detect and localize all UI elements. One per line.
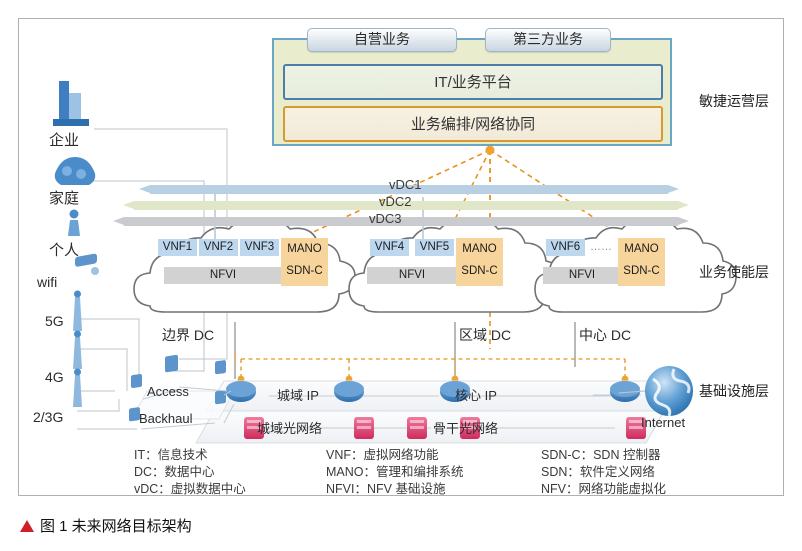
legend-item: DC：数据中心 xyxy=(134,464,246,481)
mano-sdnc-block[interactable]: MANO SDN-C xyxy=(456,238,503,286)
legend-item: MANO：管理和编排系统 xyxy=(326,464,464,481)
diagram-frame: IT/业务平台 业务编排/网络协同 自营业务 第三方业务 vDC1 vDC2 v… xyxy=(18,18,784,496)
legend-item: IT：信息技术 xyxy=(134,447,246,464)
vnf-block[interactable]: VNF5 xyxy=(415,239,454,256)
layer-label-infrastructure: 基础设施层 xyxy=(699,381,769,401)
core-ip-label: 核心 IP xyxy=(455,385,497,404)
access-label: Access xyxy=(147,384,189,399)
metro-ip-label: 城域 IP xyxy=(277,385,319,404)
vnf-block[interactable]: VNF3 xyxy=(240,239,279,256)
device-label-4g: 4G xyxy=(45,369,64,385)
legend-column-3: SDN-C：SDN 控制器 SDN：软件定义网络 NFV：网络功能虚拟化 xyxy=(541,447,666,498)
orchestration-hub-node xyxy=(486,146,495,155)
legend-column-1: IT：信息技术 DC：数据中心 vDC：虚拟数据中心 xyxy=(134,447,246,498)
vnf-block[interactable]: VNF6 xyxy=(546,239,585,256)
legend-item: vDC：虚拟数据中心 xyxy=(134,481,246,498)
nfvi-block[interactable]: NFVI xyxy=(367,267,457,284)
layer-label-service-enablement: 业务使能层 xyxy=(699,262,769,282)
infra-orange-links xyxy=(235,354,625,377)
legend-column-2: VNF：虚拟网络功能 MANO：管理和编排系统 NFVI：NFV 基础设施 xyxy=(326,447,464,498)
nfvi-block[interactable]: NFVI xyxy=(164,267,282,284)
vdc-label-3: vDC3 xyxy=(369,211,402,226)
vnf-block[interactable]: VNF1 xyxy=(158,239,197,256)
nfvi-block[interactable]: NFVI xyxy=(543,267,621,284)
dc-label: 中心 DC xyxy=(579,325,631,345)
device-label-5g: 5G xyxy=(45,313,64,329)
figure-caption: 图 1 未来网络目标架构 xyxy=(20,515,192,536)
mano-label: MANO xyxy=(618,238,665,260)
internet-globe-icon xyxy=(645,366,693,416)
third-party-service-button[interactable]: 第三方业务 xyxy=(485,28,611,52)
self-service-button[interactable]: 自营业务 xyxy=(307,28,457,52)
device-label-home: 家庭 xyxy=(49,187,79,208)
agile-operation-panel: IT/业务平台 业务编排/网络协同 xyxy=(272,38,672,146)
vnf-ellipsis: …… xyxy=(587,239,615,256)
internet-label: Internet xyxy=(641,415,685,430)
layer-label-agile-operation: 敏捷运营层 xyxy=(699,91,769,111)
legend-item: SDN：软件定义网络 xyxy=(541,464,666,481)
vnf-block[interactable]: VNF2 xyxy=(199,239,238,256)
it-platform-box[interactable]: IT/业务平台 xyxy=(283,64,663,100)
legend-item: SDN-C：SDN 控制器 xyxy=(541,447,666,464)
caption-text: 图 1 未来网络目标架构 xyxy=(40,518,192,535)
metro-optical-label: 城域光网络 xyxy=(257,418,322,437)
backbone-optical-label: 骨干光网络 xyxy=(433,418,498,437)
device-label-personal: 个人 xyxy=(49,239,79,260)
dc-label: 区域 DC xyxy=(459,325,511,345)
sdnc-label: SDN-C xyxy=(281,260,328,282)
sdnc-label: SDN-C xyxy=(618,260,665,282)
legend-item: NFVI：NFV 基础设施 xyxy=(326,481,464,498)
orchestration-box[interactable]: 业务编排/网络协同 xyxy=(283,106,663,142)
mano-sdnc-block[interactable]: MANO SDN-C xyxy=(281,238,328,286)
legend-item: VNF：虚拟网络功能 xyxy=(326,447,464,464)
legend-item: NFV：网络功能虚拟化 xyxy=(541,481,666,498)
triangle-marker-icon xyxy=(20,520,34,532)
device-label-enterprise: 企业 xyxy=(49,129,79,150)
backhaul-label: Backhaul xyxy=(139,411,192,426)
vnf-block[interactable]: VNF4 xyxy=(370,239,409,256)
device-label-wifi: wifi xyxy=(37,274,57,290)
dc-label: 边界 DC xyxy=(162,325,214,345)
mano-sdnc-block[interactable]: MANO SDN-C xyxy=(618,238,665,286)
device-label-2-3g: 2/3G xyxy=(33,409,63,425)
dc-separators xyxy=(235,322,575,379)
vdc-label-2: vDC2 xyxy=(379,194,412,209)
mano-label: MANO xyxy=(456,238,503,260)
sdnc-label: SDN-C xyxy=(456,260,503,282)
vdc-label-1: vDC1 xyxy=(389,177,422,192)
mano-label: MANO xyxy=(281,238,328,260)
